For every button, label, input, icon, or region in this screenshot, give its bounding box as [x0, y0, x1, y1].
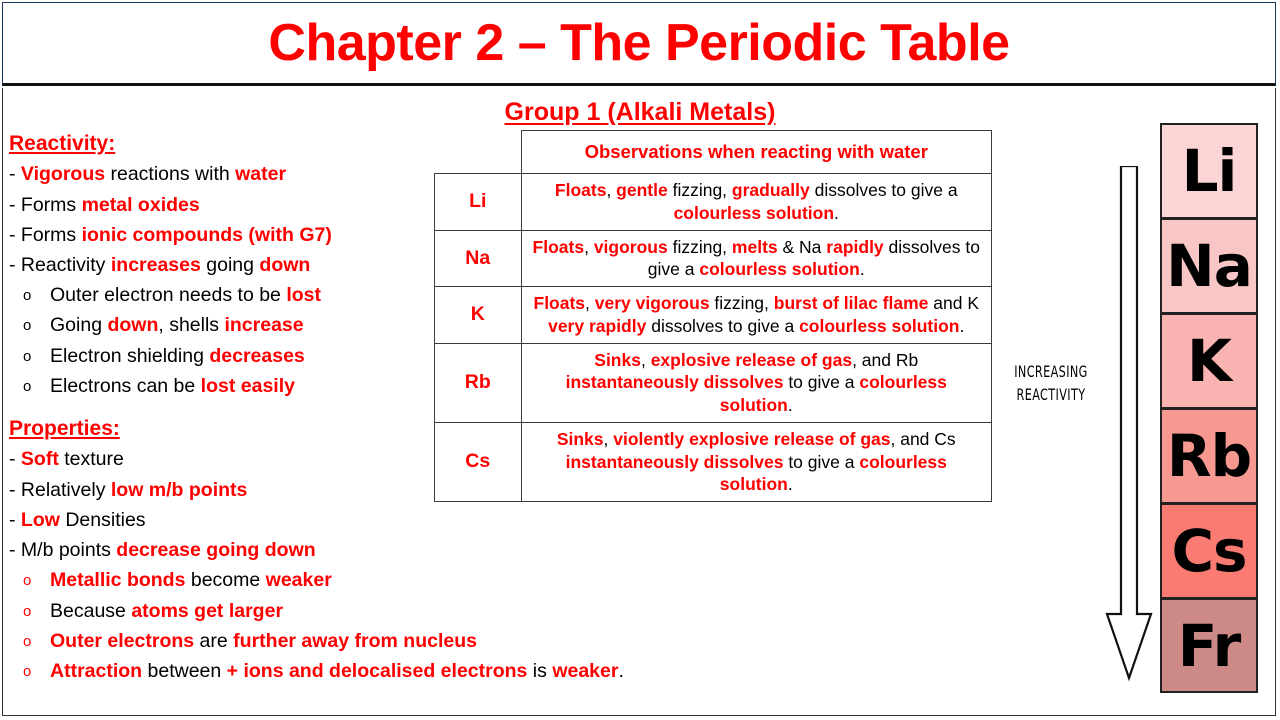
table-header-row: Observations when reacting with water — [435, 131, 992, 174]
element-symbol-cell: K — [435, 287, 522, 344]
text-fragment: decreases — [209, 345, 304, 367]
text-fragment: Outer electrons — [50, 630, 194, 652]
text-fragment: Going — [50, 314, 107, 336]
table-row: RbSinks, explosive release of gas, and R… — [435, 343, 992, 422]
text-fragment: ionic compounds (with G7) — [82, 224, 332, 246]
text-fragment: to give a — [783, 372, 859, 392]
text-fragment: Metallic bonds — [50, 569, 185, 591]
text-fragment: , and Cs — [890, 429, 955, 449]
observation-cell: Sinks, explosive release of gas, and Rb … — [521, 343, 992, 422]
text-fragment: Sinks — [594, 350, 641, 370]
text-fragment: , and Rb — [852, 350, 918, 370]
notes-spacer — [9, 401, 439, 415]
text-fragment: explosive release of gas — [651, 350, 852, 370]
text-fragment: - Reactivity — [9, 254, 111, 276]
text-fragment: lost — [286, 284, 321, 306]
text-fragment: water — [235, 163, 286, 185]
text-fragment: . — [788, 395, 793, 415]
reactivity-item: - Reactivity increases going down — [9, 250, 439, 280]
text-fragment: between — [142, 660, 227, 682]
text-fragment: metal oxides — [82, 194, 200, 216]
text-fragment: going — [201, 254, 260, 276]
reactivity-item: oOuter electron needs to be lost — [9, 280, 439, 310]
text-fragment: , — [585, 293, 595, 313]
element-tile-k: K — [1160, 313, 1258, 408]
reactivity-item: - Vigorous reactions with water — [9, 159, 439, 189]
text-fragment: , — [604, 429, 614, 449]
text-fragment: colourless solution — [699, 259, 859, 279]
text-fragment: violently explosive release of gas — [613, 429, 890, 449]
observation-cell: Floats, gentle fizzing, gradually dissol… — [521, 174, 992, 231]
text-fragment: Electrons can be — [50, 375, 201, 397]
text-fragment: instantaneously dissolves — [566, 452, 784, 472]
text-fragment: Attraction — [50, 660, 142, 682]
bullet-marker-icon: o — [23, 288, 50, 303]
properties-item: - Low Densities — [9, 505, 439, 535]
text-fragment: is — [527, 660, 552, 682]
text-fragment: instantaneously dissolves — [566, 372, 784, 392]
reactivity-list: - Vigorous reactions with water- Forms m… — [9, 159, 439, 401]
group1-element-column: LiNaKRbCsFr — [1160, 123, 1258, 693]
text-fragment: gentle — [616, 180, 668, 200]
text-fragment: texture — [59, 448, 124, 470]
observation-cell: Floats, very vigorous fizzing, burst of … — [521, 287, 992, 344]
text-fragment: - — [9, 509, 21, 531]
text-fragment: Outer electron needs to be — [50, 284, 286, 306]
table-header-observations: Observations when reacting with water — [521, 131, 992, 174]
text-fragment: Electron shielding — [50, 345, 209, 367]
element-tile-li: Li — [1160, 123, 1258, 218]
reactivity-item: - Forms metal oxides — [9, 190, 439, 220]
properties-heading: Properties: — [9, 415, 439, 443]
text-fragment: burst of lilac flame — [774, 293, 929, 313]
reactivity-heading: Reactivity: — [9, 130, 439, 158]
properties-list: - Soft texture- Relatively low m/b point… — [9, 444, 439, 686]
reactivity-item: oElectrons can be lost easily — [9, 371, 439, 401]
text-fragment: very vigorous — [595, 293, 710, 313]
text-fragment: , — [584, 237, 594, 257]
text-fragment: to give a — [783, 452, 859, 472]
text-fragment: increases — [111, 254, 201, 276]
text-fragment: fizzing, — [710, 293, 774, 313]
table-row: LiFloats, gentle fizzing, gradually diss… — [435, 174, 992, 231]
text-fragment: lost easily — [201, 375, 295, 397]
text-fragment: . — [960, 316, 965, 336]
text-fragment: down — [107, 314, 158, 336]
text-fragment: + ions and delocalised electrons — [227, 660, 528, 682]
text-fragment: Densities — [60, 509, 146, 531]
bullet-marker-icon: o — [23, 604, 50, 619]
reactivity-item: - Forms ionic compounds (with G7) — [9, 220, 439, 250]
title-banner: Chapter 2 – The Periodic Table — [2, 2, 1276, 86]
text-fragment: melts — [732, 237, 778, 257]
text-fragment: - Forms — [9, 224, 82, 246]
text-fragment: . — [618, 660, 623, 682]
text-fragment: Soft — [21, 448, 59, 470]
increasing-reactivity-arrow — [1099, 166, 1159, 686]
text-fragment: and K — [928, 293, 979, 313]
text-fragment: weaker — [266, 569, 332, 591]
text-fragment: . — [788, 474, 793, 494]
element-tile-na: Na — [1160, 218, 1258, 313]
bullet-marker-icon: o — [23, 573, 50, 588]
properties-item: oBecause atoms get larger — [9, 596, 439, 626]
text-fragment: Low — [21, 509, 60, 531]
text-fragment: gradually — [732, 180, 810, 200]
element-tile-cs: Cs — [1160, 503, 1258, 598]
arrow-caption-line2: REACTIVITY — [1014, 383, 1089, 406]
notes-column: Reactivity: - Vigorous reactions with wa… — [9, 130, 439, 686]
text-fragment: reactions with — [105, 163, 235, 185]
text-fragment: Because — [50, 600, 131, 622]
text-fragment: . — [834, 203, 839, 223]
text-fragment: Sinks — [557, 429, 604, 449]
element-symbol-cell: Cs — [435, 422, 522, 501]
text-fragment: atoms get larger — [131, 600, 283, 622]
element-tile-fr: Fr — [1160, 598, 1258, 693]
text-fragment: . — [860, 259, 865, 279]
text-fragment: further away from nucleus — [233, 630, 477, 652]
table-corner-cell — [435, 131, 522, 174]
text-fragment: become — [185, 569, 265, 591]
text-fragment: colourless solution — [674, 203, 834, 223]
table-row: KFloats, very vigorous fizzing, burst of… — [435, 287, 992, 344]
text-fragment: Floats — [534, 293, 586, 313]
element-tile-rb: Rb — [1160, 408, 1258, 503]
observation-cell: Floats, vigorous fizzing, melts & Na rap… — [521, 230, 992, 287]
text-fragment: , shells — [158, 314, 224, 336]
section-heading-group1: Group 1 (Alkali Metals) — [3, 98, 1277, 127]
element-symbol-cell: Na — [435, 230, 522, 287]
content-frame: Group 1 (Alkali Metals) Reactivity: - Vi… — [2, 88, 1276, 716]
text-fragment: fizzing, — [668, 180, 732, 200]
text-fragment: very rapidly — [548, 316, 646, 336]
properties-item: - Relatively low m/b points — [9, 475, 439, 505]
text-fragment: - Relatively — [9, 479, 111, 501]
text-fragment: - — [9, 163, 21, 185]
arrow-caption-line1: INCREASING — [1014, 360, 1089, 383]
properties-item: oOuter electrons are further away from n… — [9, 626, 439, 656]
properties-item: - M/b points decrease going down — [9, 535, 439, 565]
text-fragment: - M/b points — [9, 539, 116, 561]
reactivity-item: oGoing down, shells increase — [9, 310, 439, 340]
text-fragment: low m/b points — [111, 479, 248, 501]
text-fragment: , — [641, 350, 651, 370]
text-fragment: Floats — [555, 180, 607, 200]
text-fragment: fizzing, — [668, 237, 732, 257]
observation-cell: Sinks, violently explosive release of ga… — [521, 422, 992, 501]
text-fragment: decrease going down — [116, 539, 315, 561]
text-fragment: , — [606, 180, 616, 200]
text-fragment: rapidly — [826, 237, 883, 257]
bullet-marker-icon: o — [23, 379, 50, 394]
text-fragment: colourless solution — [799, 316, 959, 336]
text-fragment: & Na — [778, 237, 827, 257]
bullet-marker-icon: o — [23, 634, 50, 649]
bullet-marker-icon: o — [23, 664, 50, 679]
observations-table: Observations when reacting with waterLiF… — [434, 130, 992, 502]
element-symbol-cell: Li — [435, 174, 522, 231]
bullet-marker-icon: o — [23, 318, 50, 333]
properties-item: - Soft texture — [9, 444, 439, 474]
arrow-caption: INCREASING REACTIVITY — [1014, 360, 1089, 406]
text-fragment: are — [194, 630, 233, 652]
element-symbol-cell: Rb — [435, 343, 522, 422]
bullet-marker-icon: o — [23, 349, 50, 364]
table-row: NaFloats, vigorous fizzing, melts & Na r… — [435, 230, 992, 287]
text-fragment: weaker — [552, 660, 618, 682]
text-fragment: Vigorous — [21, 163, 105, 185]
page-title: Chapter 2 – The Periodic Table — [268, 17, 1009, 69]
text-fragment: dissolves to give a — [646, 316, 799, 336]
text-fragment: down — [259, 254, 310, 276]
text-fragment: vigorous — [594, 237, 668, 257]
text-fragment: dissolves to give a — [810, 180, 958, 200]
text-fragment: increase — [224, 314, 303, 336]
reactivity-item: oElectron shielding decreases — [9, 341, 439, 371]
table-row: CsSinks, violently explosive release of … — [435, 422, 992, 501]
properties-item: oMetallic bonds become weaker — [9, 565, 439, 595]
down-arrow-icon — [1099, 166, 1159, 686]
text-fragment: - — [9, 448, 21, 470]
properties-item: oAttraction between + ions and delocalis… — [9, 656, 439, 686]
text-fragment: - Forms — [9, 194, 82, 216]
text-fragment: Floats — [533, 237, 585, 257]
